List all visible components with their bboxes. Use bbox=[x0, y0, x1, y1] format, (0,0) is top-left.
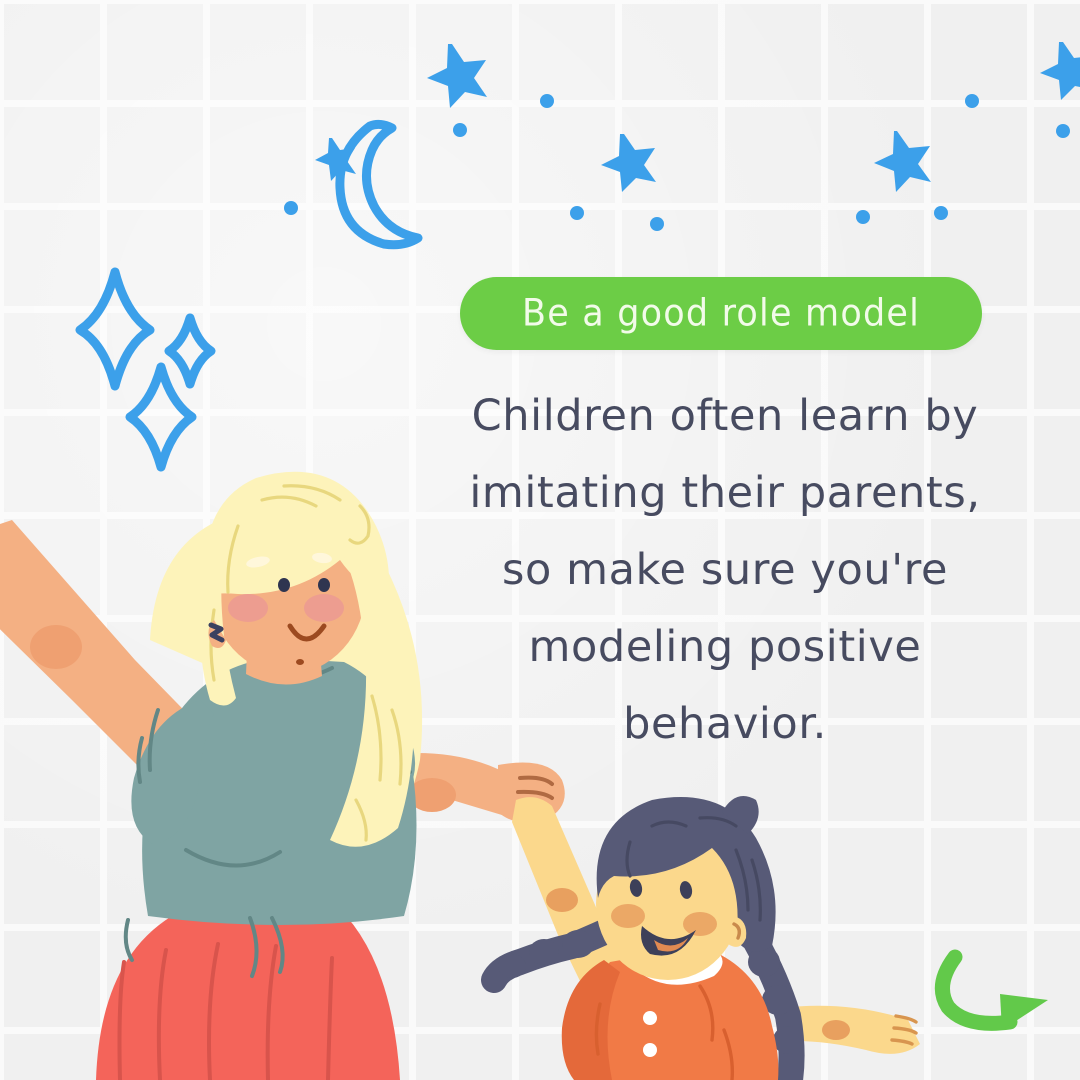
sparkle-icon-small bbox=[169, 318, 211, 384]
star-icon-1 bbox=[427, 44, 487, 108]
tip-body-line-2: imitating their parents, bbox=[430, 455, 1020, 532]
dot-icon-8 bbox=[965, 94, 979, 108]
tip-body-text: Children often learn by imitating their … bbox=[430, 378, 1020, 763]
star-icon-2 bbox=[601, 134, 656, 192]
dot-icon-1 bbox=[284, 201, 298, 215]
tip-body-line-1: Children often learn by bbox=[430, 378, 1020, 455]
sparkle-icon-medium bbox=[130, 367, 192, 467]
dot-icon-9 bbox=[1056, 124, 1070, 138]
dot-icons bbox=[284, 60, 1070, 231]
star-icons bbox=[315, 42, 1080, 192]
dot-icon-5 bbox=[650, 217, 664, 231]
dot-icon-2 bbox=[453, 123, 467, 137]
swipe-next-arrow-icon[interactable] bbox=[942, 957, 1048, 1030]
star-icon-3 bbox=[874, 131, 931, 192]
tip-body-line-3: so make sure you're bbox=[430, 532, 1020, 609]
dot-icon-7 bbox=[934, 206, 948, 220]
dot-icon-3 bbox=[540, 94, 554, 108]
tip-headline-label: Be a good role model bbox=[522, 292, 920, 334]
dot-icon-4 bbox=[570, 206, 584, 220]
crescent-moon-icon bbox=[340, 124, 418, 244]
tip-body-line-5: behavior. bbox=[430, 686, 1020, 763]
dot-icon-6 bbox=[856, 210, 870, 224]
sparkle-icon-large bbox=[80, 272, 150, 386]
star-icon-4 bbox=[1040, 42, 1080, 100]
sparkle-icons bbox=[80, 272, 211, 467]
parenting-tip-card: Be a good role model Children often lear… bbox=[0, 0, 1080, 1080]
tip-body-line-4: modeling positive bbox=[430, 609, 1020, 686]
tip-headline-badge: Be a good role model bbox=[460, 277, 982, 350]
